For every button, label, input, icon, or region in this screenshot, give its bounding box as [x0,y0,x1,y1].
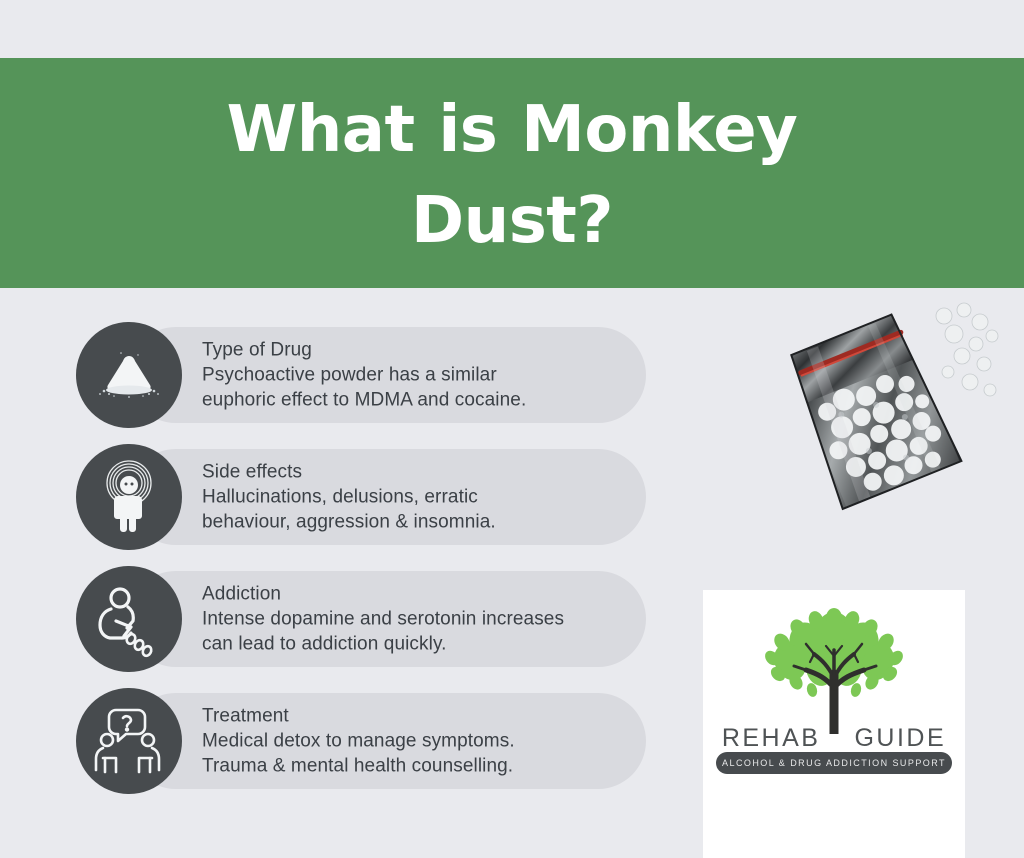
info-heading: Type of Drug [202,338,642,363]
logo-tagline: ALCOHOL & DRUG ADDICTION SUPPORT [722,758,946,768]
info-description: Intense dopamine and serotonin increases… [202,607,642,657]
info-row-addiction: Addiction Intense dopamine and serotonin… [76,566,656,672]
info-heading: Addiction [202,582,642,607]
person-in-chains-icon [76,566,182,672]
bag-of-crystals-photo [748,296,1010,558]
info-row-type-of-drug: Type of Drug Psychoactive powder has a s… [76,322,656,428]
info-text: Treatment Medical detox to manage sympto… [202,704,642,779]
info-text: Addiction Intense dopamine and serotonin… [202,582,642,657]
info-heading: Treatment [202,704,642,729]
infographic-page: What is Monkey Dust? [0,0,1024,858]
counselling-session-icon [76,688,182,794]
green-tree-icon [734,604,934,734]
powder-pile-icon [76,322,182,428]
info-text: Side effects Hallucinations, delusions, … [202,460,642,535]
info-row-side-effects: Side effects Hallucinations, delusions, … [76,444,656,550]
logo-tagline-bar: ALCOHOL & DRUG ADDICTION SUPPORT [716,752,952,774]
info-description: Medical detox to manage symptoms. Trauma… [202,729,642,779]
info-list: Type of Drug Psychoactive powder has a s… [76,322,656,810]
page-title: What is Monkey Dust? [192,85,832,267]
rehab-guide-logo-card: REHAB GUIDE ALCOHOL & DRUG ADDICTION SUP… [703,590,965,858]
info-text: Type of Drug Psychoactive powder has a s… [202,338,642,413]
info-heading: Side effects [202,460,642,485]
logo-inner: REHAB GUIDE ALCOHOL & DRUG ADDICTION SUP… [703,590,965,820]
info-description: Hallucinations, delusions, erratic behav… [202,485,642,535]
person-hallucination-icon [76,444,182,550]
info-row-treatment: Treatment Medical detox to manage sympto… [76,688,656,794]
info-description: Psychoactive powder has a similar euphor… [202,363,642,413]
header-banner: What is Monkey Dust? [0,58,1024,288]
